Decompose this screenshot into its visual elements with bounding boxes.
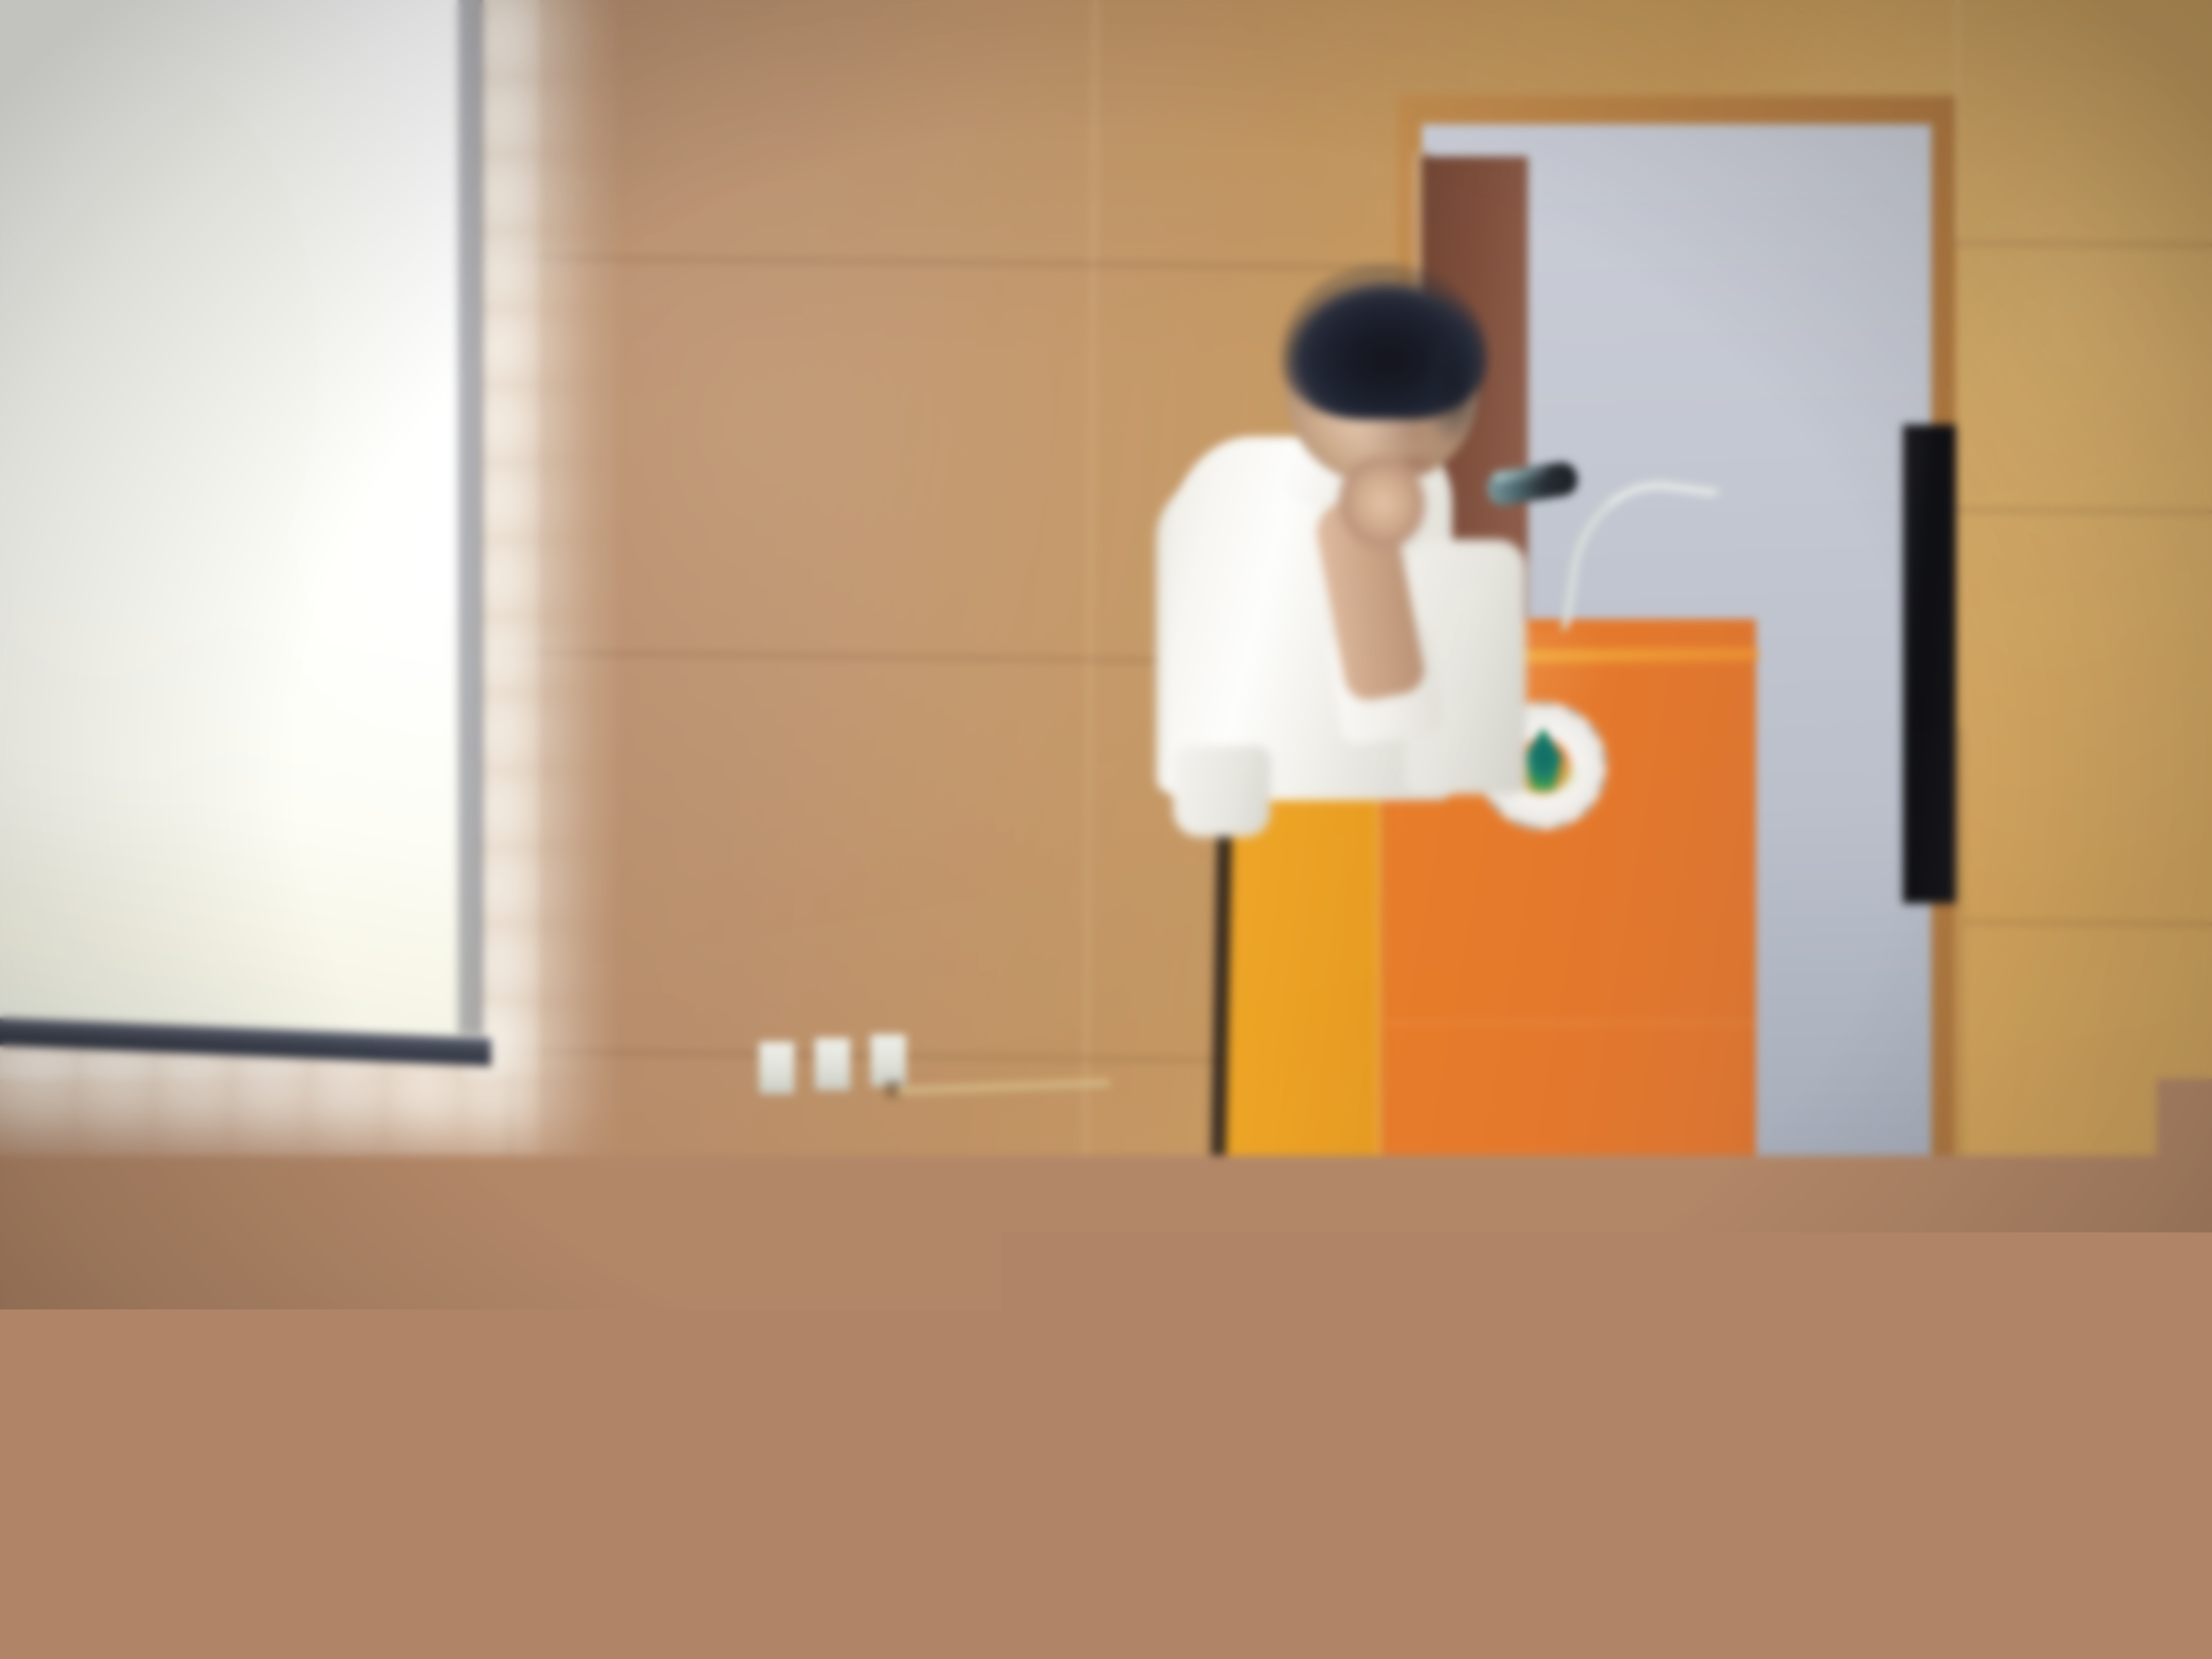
projection-screen-surface bbox=[0, 0, 479, 1064]
wall-plate-2[interactable] bbox=[815, 1038, 850, 1090]
column-loudspeaker bbox=[1903, 424, 1956, 903]
wall-plate-3[interactable] bbox=[871, 1034, 906, 1087]
wall-seam-vertical bbox=[508, 1067, 511, 1352]
podium-panel-seam bbox=[1382, 1022, 1757, 1024]
speaker-person bbox=[1167, 285, 1592, 794]
shirt-tail bbox=[1173, 746, 1270, 837]
photograph-canvas bbox=[0, 0, 2212, 1659]
hair-side-shadow bbox=[1428, 327, 1491, 449]
projection-screen-right-edge bbox=[458, 0, 483, 1035]
wall-seam-vertical bbox=[1960, 728, 1963, 1334]
wall-seam-vertical bbox=[1956, 0, 1959, 243]
microphone-cable-base bbox=[1196, 1373, 1269, 1404]
floor-glare-right bbox=[1795, 1376, 2212, 1528]
projection-screen bbox=[0, 0, 521, 1085]
floor-plank-seam bbox=[0, 1584, 2212, 1659]
loudspeaker-base-shadow bbox=[1910, 1185, 1950, 1201]
wall-plate-1[interactable] bbox=[759, 1042, 794, 1094]
